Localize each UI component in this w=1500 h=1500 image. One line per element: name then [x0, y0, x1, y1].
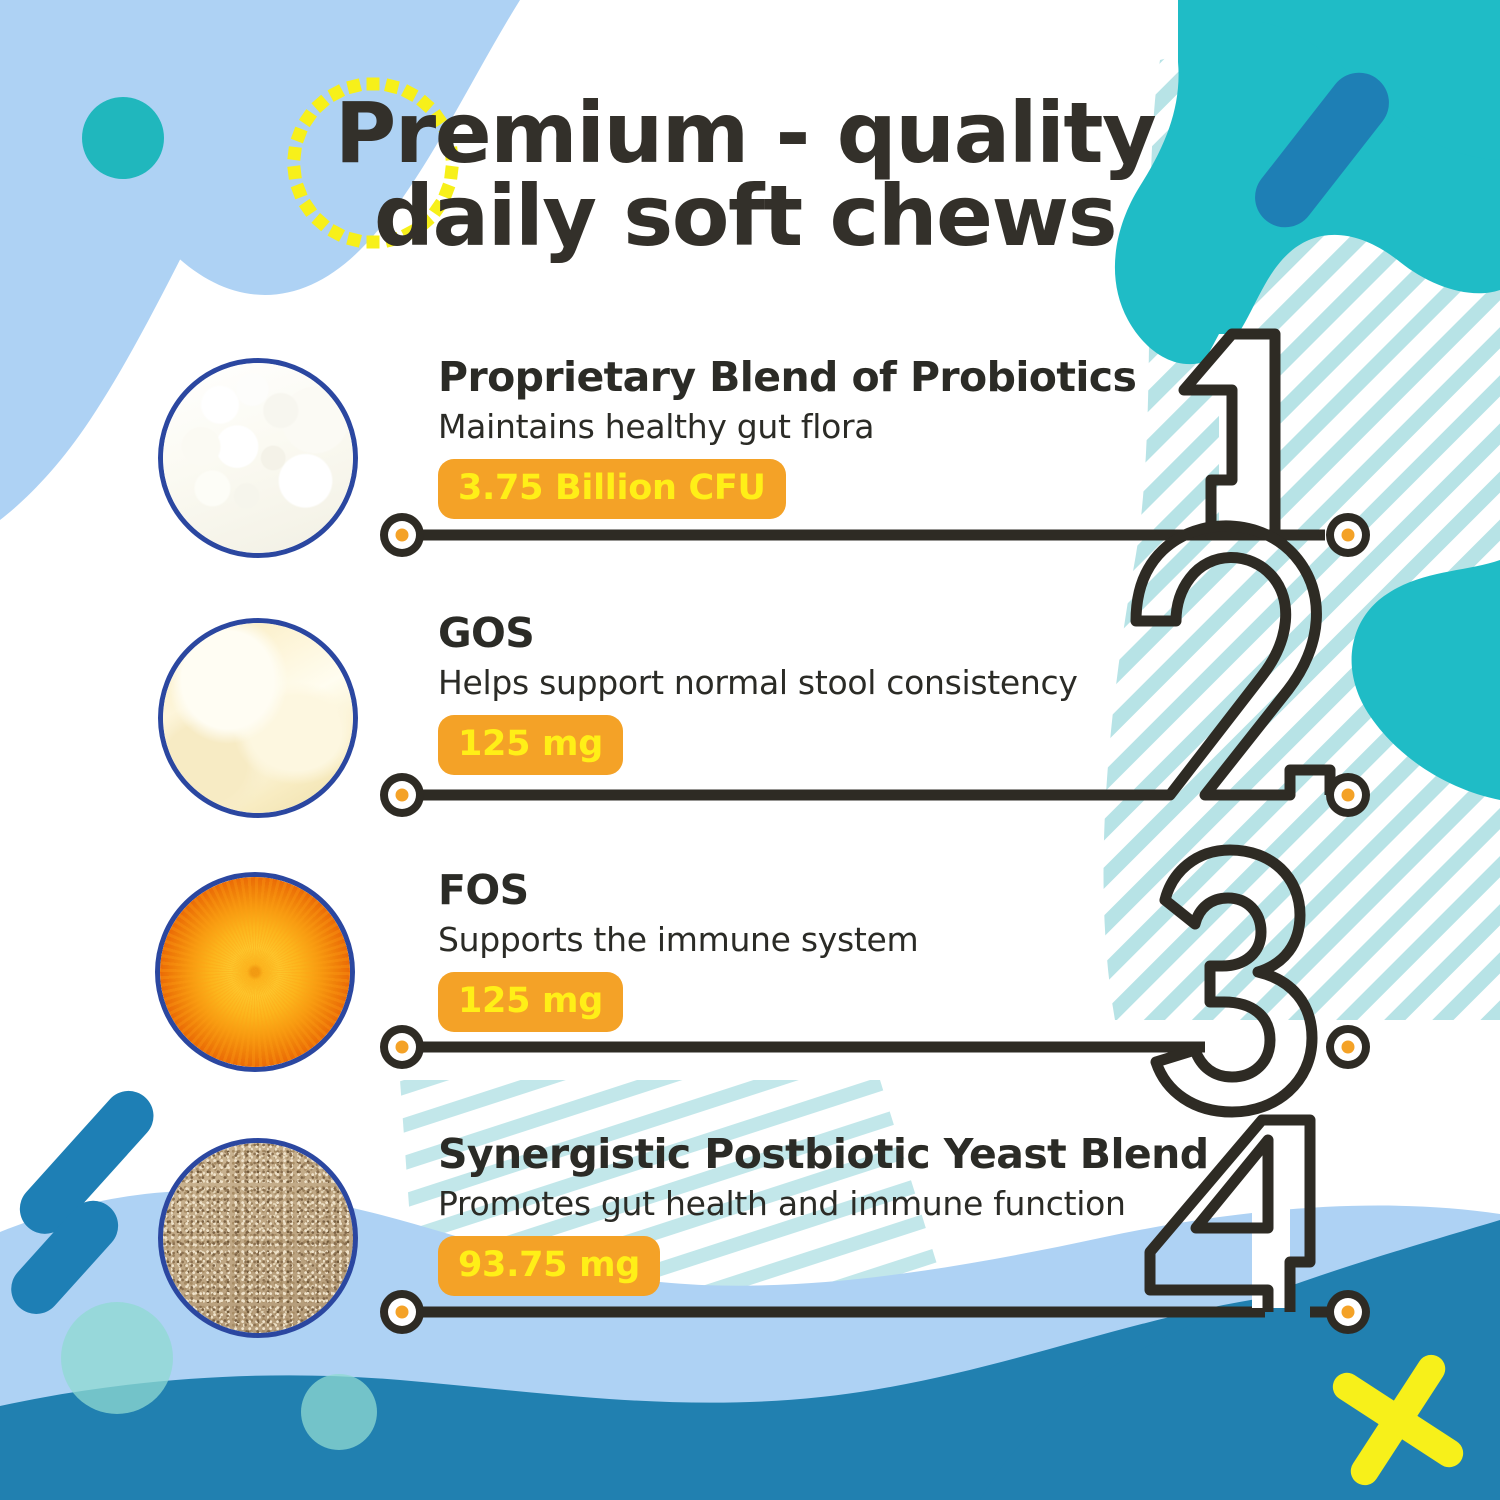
connector-dot-left-2	[380, 773, 424, 817]
title-line-1: Premium - quality	[330, 92, 1160, 175]
ingredient-description-4: Promotes gut health and immune function	[438, 1187, 1208, 1220]
connector-dot-right-3	[1326, 1025, 1370, 1069]
ingredient-amount-3: 125 mg	[438, 972, 623, 1032]
probiotic-cream-swatch	[163, 363, 353, 553]
page-title: Premium - quality daily soft chews	[330, 92, 1160, 258]
ingredient-name-1: Proprietary Blend of Probiotics	[438, 357, 1136, 398]
ingredient-name-4: Synergistic Postbiotic Yeast Blend	[438, 1134, 1208, 1175]
ingredient-amount-1: 3.75 Billion CFU	[438, 459, 786, 519]
ingredient-row-3: FOS Supports the immune system 125 mg	[438, 870, 918, 1032]
ingredient-amount-4: 93.75 mg	[438, 1236, 660, 1296]
ingredient-swatch-3	[155, 872, 355, 1072]
connector-dot-right-2	[1326, 773, 1370, 817]
ingredient-row-2: GOS Helps support normal stool consisten…	[438, 613, 1078, 775]
ingredient-amount-2: 125 mg	[438, 715, 623, 775]
ingredient-name-2: GOS	[438, 613, 1078, 654]
fos-chicory-swatch	[160, 877, 350, 1067]
connector-dot-right-4	[1326, 1290, 1370, 1334]
ingredient-swatch-2	[158, 618, 358, 818]
ingredient-description-2: Helps support normal stool consistency	[438, 666, 1078, 699]
yeast-granule-swatch	[163, 1143, 353, 1333]
infographic-canvas: Premium - quality daily soft chews Propr…	[0, 0, 1500, 1500]
connector-dot-right-1	[1326, 513, 1370, 557]
gos-cream-swatch	[163, 623, 353, 813]
ingredient-row-4: Synergistic Postbiotic Yeast Blend Promo…	[438, 1134, 1208, 1296]
ingredient-description-1: Maintains healthy gut flora	[438, 410, 1136, 443]
connector-dot-left-3	[380, 1025, 424, 1069]
ingredient-description-3: Supports the immune system	[438, 923, 918, 956]
connector-dot-left-4	[380, 1290, 424, 1334]
ingredient-name-3: FOS	[438, 870, 918, 911]
ingredient-swatch-1	[158, 358, 358, 558]
connector-dot-left-1	[380, 513, 424, 557]
ingredient-swatch-4	[158, 1138, 358, 1338]
ingredient-row-1: Proprietary Blend of Probiotics Maintain…	[438, 357, 1136, 519]
title-line-2: daily soft chews	[330, 175, 1160, 258]
